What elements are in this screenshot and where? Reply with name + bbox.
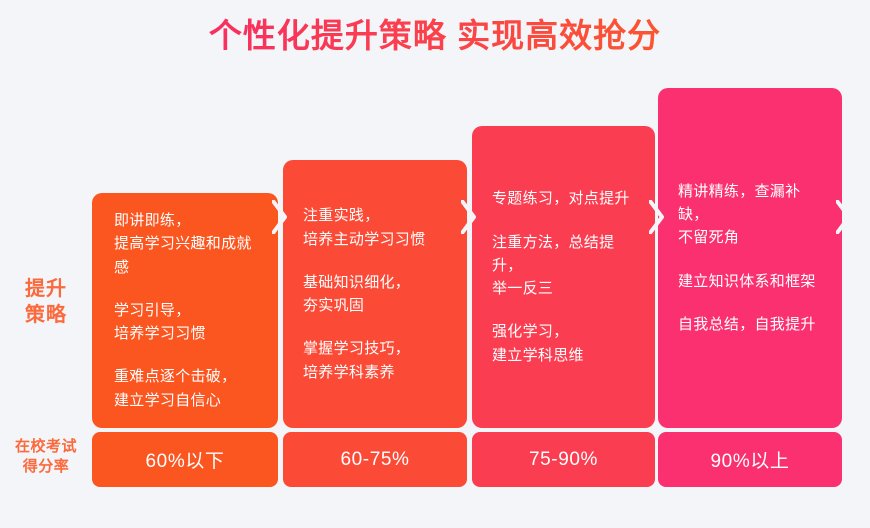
- strategy-item: 学习引导， 培养学习习惯: [114, 299, 256, 346]
- strategy-item: 即讲即练， 提高学习兴趣和成就感: [114, 209, 256, 279]
- page-title: 个性化提升策略 实现高效抢分: [0, 14, 870, 58]
- strategy-item: 专题练习，对点提升: [492, 187, 635, 210]
- strategy-item: 注重实践， 培养主动学习习惯: [303, 204, 447, 251]
- strategy-item: 重难点逐个击破， 建立学习自信心: [114, 365, 256, 412]
- score-bar-label: 90%以上: [710, 446, 789, 473]
- strategy-item: 自我总结，自我提升: [678, 313, 822, 336]
- score-bar-4[interactable]: 90%以上: [658, 432, 842, 487]
- score-bar-3[interactable]: 75-90%: [472, 432, 655, 487]
- score-bar-label: 60%以下: [145, 446, 224, 473]
- strategy-column-1[interactable]: 即讲即练， 提高学习兴趣和成就感 学习引导， 培养学习习惯 重难点逐个击破， 建…: [92, 193, 278, 428]
- score-bar-1[interactable]: 60%以下: [92, 432, 278, 487]
- strategy-item: 建立知识体系和框架: [678, 270, 822, 293]
- score-bar-2[interactable]: 60-75%: [283, 432, 467, 487]
- infographic-canvas: 个性化提升策略 实现高效抢分 提升 策略 在校考试 得分率 即讲即练， 提高学习…: [0, 0, 870, 528]
- strategy-column-2-content: 注重实践， 培养主动学习习惯 基础知识细化， 夯实巩固 掌握学习技巧， 培养学科…: [283, 160, 467, 428]
- strategy-column-2[interactable]: 注重实践， 培养主动学习习惯 基础知识细化， 夯实巩固 掌握学习技巧， 培养学科…: [283, 160, 467, 428]
- score-bar-label: 60-75%: [340, 449, 409, 471]
- strategy-column-3[interactable]: 专题练习，对点提升 注重方法，总结提升， 举一反三 强化学习， 建立学科思维: [472, 126, 655, 428]
- row-label-strategy: 提升 策略: [6, 276, 86, 329]
- strategy-item: 强化学习， 建立学科思维: [492, 320, 635, 367]
- strategy-item: 精讲精练，查漏补缺， 不留死角: [678, 180, 822, 250]
- strategy-column-4[interactable]: 精讲精练，查漏补缺， 不留死角 建立知识体系和框架 自我总结，自我提升: [658, 88, 842, 428]
- score-bar-label: 75-90%: [529, 449, 598, 471]
- strategy-item: 基础知识细化， 夯实巩固: [303, 271, 447, 318]
- strategy-column-3-content: 专题练习，对点提升 注重方法，总结提升， 举一反三 强化学习， 建立学科思维: [472, 126, 655, 428]
- strategy-item: 掌握学习技巧， 培养学科素养: [303, 337, 447, 384]
- strategy-column-4-content: 精讲精练，查漏补缺， 不留死角 建立知识体系和框架 自我总结，自我提升: [658, 88, 842, 428]
- strategy-item: 注重方法，总结提升， 举一反三: [492, 231, 635, 301]
- row-label-score-rate: 在校考试 得分率: [2, 437, 90, 477]
- strategy-column-1-content: 即讲即练， 提高学习兴趣和成就感 学习引导， 培养学习习惯 重难点逐个击破， 建…: [92, 193, 278, 428]
